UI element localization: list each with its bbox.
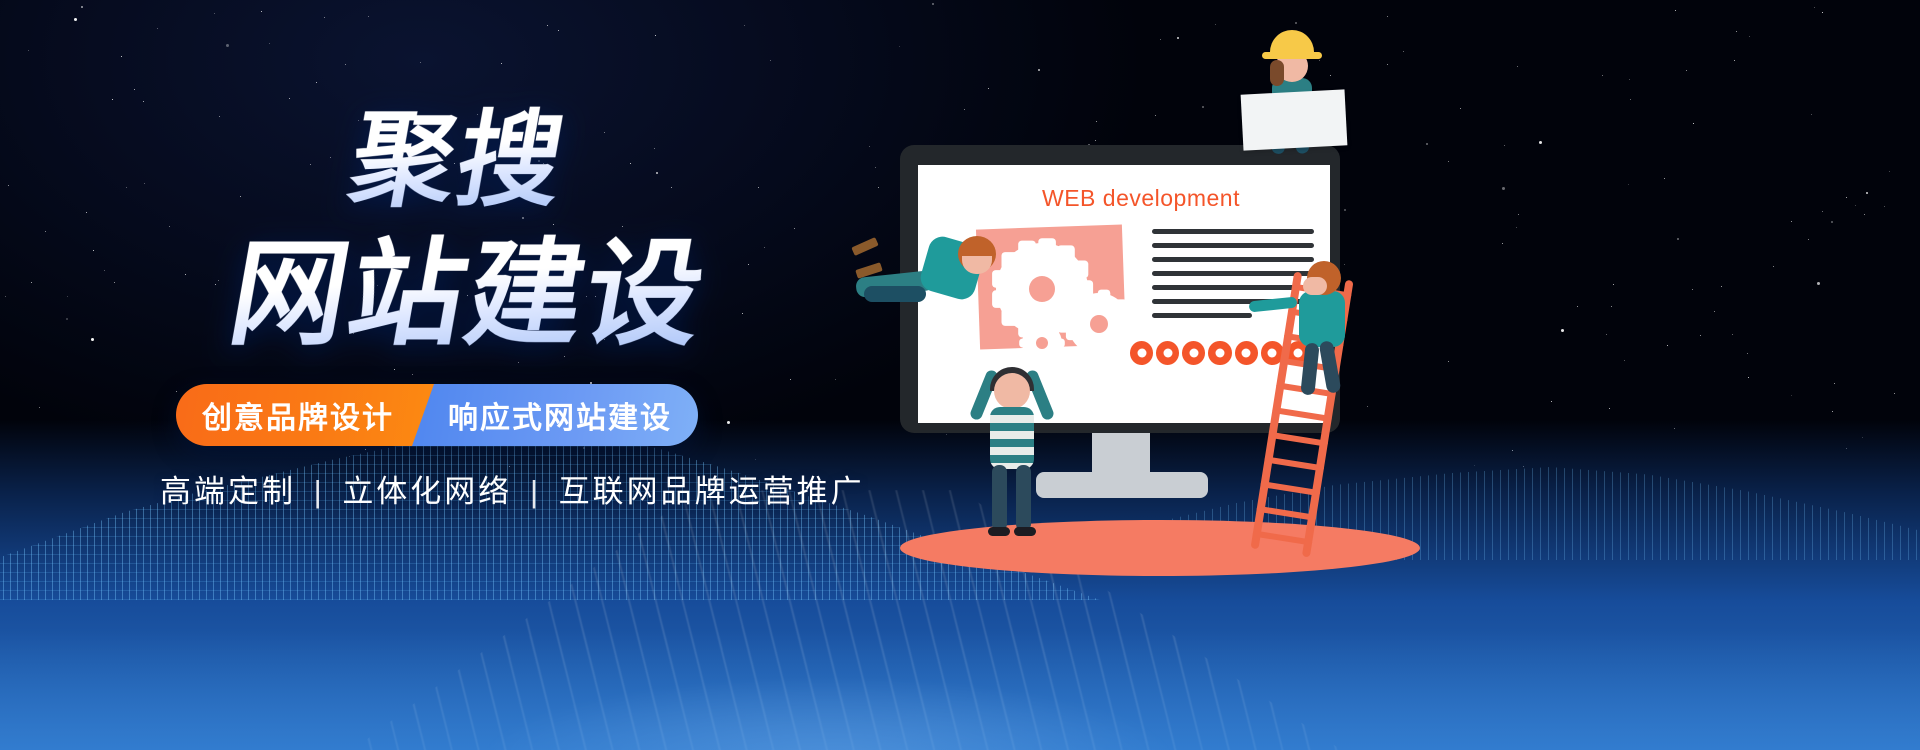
tagline-separator-1: |	[314, 474, 325, 509]
shoe	[988, 527, 1010, 536]
gear-medium	[1068, 293, 1130, 355]
ladder-rung	[1252, 530, 1312, 545]
badge-responsive-web[interactable]: 响应式网站建设	[412, 384, 698, 446]
tagline: 高端定制 | 立体化网络 | 互联网品牌运营推广	[160, 466, 865, 511]
text-line	[1152, 229, 1314, 234]
text-block: 聚搜 网站建设 创意品牌设计 响应式网站建设 高端定制 | 立体化网络 | 互联…	[0, 0, 900, 750]
worker-bottom-center	[970, 355, 1056, 545]
badge-group: 创意品牌设计 响应式网站建设	[176, 384, 698, 446]
leg	[1319, 340, 1342, 394]
badge-creative-design[interactable]: 创意品牌设计	[176, 384, 434, 446]
illustration: WEB development	[840, 0, 1920, 750]
torso	[1299, 291, 1345, 347]
tagline-part-1: 高端定制	[160, 474, 296, 509]
text-line	[1152, 313, 1252, 318]
arm	[1249, 297, 1298, 313]
tagline-part-2: 立体化网络	[342, 474, 512, 509]
blueprint-paper	[1241, 89, 1348, 150]
ladder-rung	[1264, 456, 1324, 471]
monitor-base	[1036, 472, 1208, 498]
hero-banner: 聚搜 网站建设 创意品牌设计 响应式网站建设 高端定制 | 立体化网络 | 互联…	[0, 0, 1920, 750]
arm	[864, 286, 926, 302]
mini-gear	[1182, 341, 1205, 365]
leg	[992, 465, 1007, 531]
hardhat-brim	[1262, 52, 1322, 59]
worker-on-ladder	[1255, 255, 1375, 395]
mini-gear	[1130, 341, 1153, 365]
worker-hardhat-top	[1230, 30, 1360, 170]
tool	[851, 237, 878, 256]
torso	[990, 407, 1034, 469]
headline-line-1: 聚搜	[342, 106, 573, 216]
screen-title: WEB development	[1042, 185, 1240, 212]
leg	[1300, 342, 1319, 395]
mini-gear	[1208, 341, 1231, 365]
shoe	[1014, 527, 1036, 536]
headline-line-2: 网站建设	[221, 232, 715, 356]
ladder-rung	[1268, 432, 1328, 447]
ladder-rung	[1256, 506, 1316, 521]
text-line	[1152, 243, 1314, 248]
mini-gear	[1156, 341, 1179, 365]
face	[1303, 277, 1327, 295]
worker-left-edge	[850, 222, 1000, 332]
hair	[1270, 60, 1284, 86]
head	[994, 373, 1030, 409]
ladder-rung	[1272, 407, 1332, 422]
ladder-rung	[1260, 481, 1320, 496]
tagline-part-3: 互联网品牌运营推广	[559, 474, 865, 509]
tagline-separator-2: |	[530, 474, 541, 509]
leg	[1016, 465, 1031, 531]
